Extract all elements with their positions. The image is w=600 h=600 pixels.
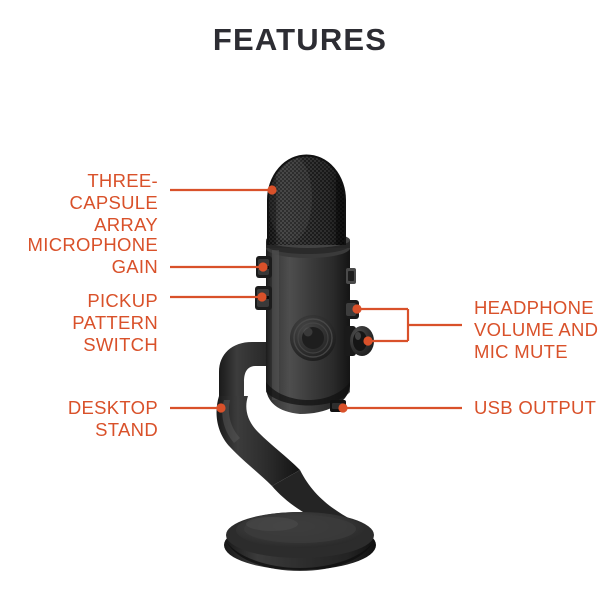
callout-label-three-capsule-array: THREE-CAPSULE ARRAY	[0, 170, 158, 236]
leader-usb-output	[338, 403, 462, 412]
callout-label-desktop-stand: DESKTOP STAND	[0, 397, 158, 441]
features-diagram: FEATURES	[0, 0, 600, 600]
leader-pickup-pattern-switch	[170, 292, 267, 301]
leader-headphone-volume-and-mic-mute	[352, 304, 462, 345]
callout-label-usb-output: USB OUTPUT	[474, 397, 596, 419]
callout-label-headphone-volume-and-mic-mute: HEADPHONE VOLUME AND MIC MUTE	[474, 297, 598, 363]
leader-microphone-gain	[170, 262, 268, 271]
leader-three-capsule-array	[170, 185, 277, 194]
callout-label-pickup-pattern-switch: PICKUP PATTERN SWITCH	[0, 290, 158, 356]
callout-label-microphone-gain: MICROPHONE GAIN	[28, 234, 158, 278]
leader-desktop-stand	[170, 403, 226, 412]
